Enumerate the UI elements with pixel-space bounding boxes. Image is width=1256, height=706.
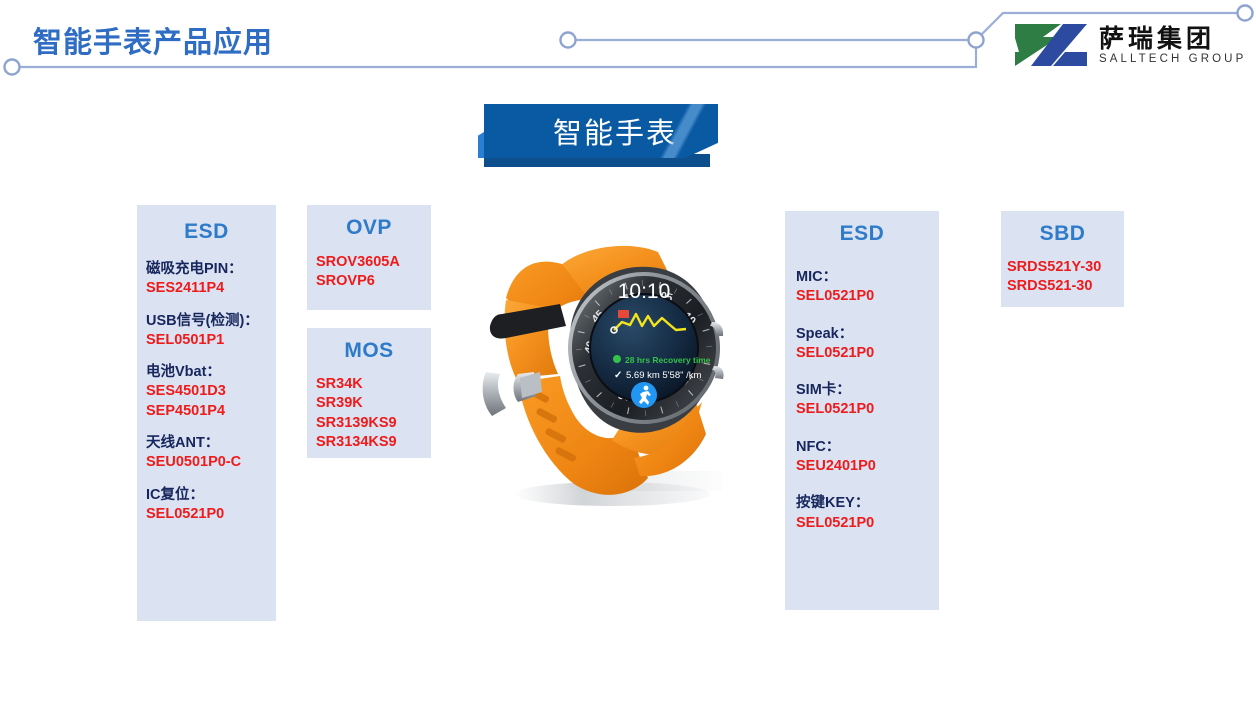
part-group: 天线ANT： SEU0501P0-C xyxy=(146,434,276,473)
group-label: SIM卡： xyxy=(796,381,939,400)
part-group: SIM卡： SEL0521P0 xyxy=(796,381,939,420)
panel-ovp: OVP SROV3605A SROVP6 xyxy=(307,205,431,310)
page-title: 智能手表产品应用 xyxy=(33,19,273,61)
deco-node-right xyxy=(1238,6,1253,21)
brand-logo: 萨瑞集团 SALLTECH GROUP xyxy=(1013,22,1246,68)
part-group: MIC： SEL0521P0 xyxy=(796,268,939,307)
part-number: SR39K xyxy=(316,394,431,413)
deco-node-junction xyxy=(969,33,984,48)
part-number: SROV3605A xyxy=(316,253,431,272)
part-number: SEL0521P0 xyxy=(146,505,276,524)
part-group: SROV3605A SROVP6 xyxy=(316,253,431,292)
salltech-logo-mark xyxy=(1013,22,1089,68)
part-group: 按键KEY： SEL0521P0 xyxy=(796,494,939,533)
panel-mos: MOS SR34K SR39K SR3139KS9 SR3134KS9 xyxy=(307,328,431,458)
group-label: 按键KEY： xyxy=(796,494,939,513)
part-number: SES2411P4 xyxy=(146,279,276,298)
panel-esd-right: ESD MIC： SEL0521P0 Speak： SEL0521P0 SIM卡… xyxy=(785,211,939,610)
panel-title: MOS xyxy=(307,339,431,363)
group-label: 天线ANT： xyxy=(146,434,276,453)
group-label: 电池Vbat： xyxy=(146,363,276,382)
group-label: MIC： xyxy=(796,268,939,287)
recovery-status-icon xyxy=(613,355,621,363)
banner-label: 智能手表 xyxy=(553,110,677,152)
panel-esd-left: ESD 磁吸充电PIN： SES2411P4 USB信号(检测)： SEL050… xyxy=(137,205,276,621)
group-label: USB信号(检测)： xyxy=(146,312,276,331)
watch-check-icon: ✓ xyxy=(614,370,622,381)
slide-root: 智能手表产品应用 萨瑞集团 SALLTECH GROUP 智能手表 ESD 磁吸… xyxy=(0,0,1256,706)
part-number: SEL0521P0 xyxy=(796,344,939,363)
smartwatch-product-image: 60 05 10 15 20 25 30 35 40 45 10:10 28 h… xyxy=(462,226,752,526)
part-number: SR34K xyxy=(316,375,431,394)
part-number: SES4501D3 xyxy=(146,382,276,401)
part-number: SR3134KS9 xyxy=(316,433,431,452)
watch-time: 10:10 xyxy=(618,280,671,303)
part-number: SEL0521P0 xyxy=(796,287,939,306)
section-banner: 智能手表 xyxy=(478,100,724,168)
part-number: SEU0501P0-C xyxy=(146,453,276,472)
part-group: USB信号(检测)： SEL0501P1 xyxy=(146,312,276,351)
panel-groups: SRDS521Y-30 SRDS521-30 xyxy=(1001,258,1124,297)
part-group: IC复位： SEL0521P0 xyxy=(146,486,276,525)
panel-sbd: SBD SRDS521Y-30 SRDS521-30 xyxy=(1001,211,1124,307)
part-number: SRDS521-30 xyxy=(1007,277,1124,296)
panel-title: ESD xyxy=(137,220,276,244)
part-number: SEL0501P1 xyxy=(146,331,276,350)
part-number: SR3139KS9 xyxy=(316,414,431,433)
part-number: SEL0521P0 xyxy=(796,400,939,419)
panel-groups: MIC： SEL0521P0 Speak： SEL0521P0 SIM卡： SE… xyxy=(785,268,939,533)
logo-name-en: SALLTECH GROUP xyxy=(1099,53,1246,65)
panel-groups: 磁吸充电PIN： SES2411P4 USB信号(检测)： SEL0501P1 … xyxy=(137,260,276,524)
watch-recovery-text: 28 hrs Recovery time xyxy=(625,355,711,365)
part-group: 电池Vbat： SES4501D3 SEP4501P4 xyxy=(146,363,276,421)
watch-distance-text: 5.69 km 5'58" /km xyxy=(626,370,701,381)
part-group: SRDS521Y-30 SRDS521-30 xyxy=(1007,258,1124,297)
part-group: Speak： SEL0521P0 xyxy=(796,325,939,364)
deco-node-mid xyxy=(561,33,576,48)
deco-node-left xyxy=(5,60,20,75)
group-label: IC复位： xyxy=(146,486,276,505)
panel-title: ESD xyxy=(785,222,939,246)
part-group: 磁吸充电PIN： SES2411P4 xyxy=(146,260,276,299)
part-number: SROVP6 xyxy=(316,272,431,291)
part-group: NFC： SEU2401P0 xyxy=(796,438,939,477)
part-number: SEP4501P4 xyxy=(146,402,276,421)
part-number: SRDS521Y-30 xyxy=(1007,258,1124,277)
panel-groups: SR34K SR39K SR3139KS9 SR3134KS9 xyxy=(307,375,431,452)
group-label: NFC： xyxy=(796,438,939,457)
slide-header: 智能手表产品应用 萨瑞集团 SALLTECH GROUP xyxy=(0,0,1256,92)
part-number: SEL0521P0 xyxy=(796,514,939,533)
chart-flag-marker xyxy=(618,310,629,318)
logo-name-cn: 萨瑞集团 xyxy=(1099,26,1246,52)
part-group: SR34K SR39K SR3139KS9 SR3134KS9 xyxy=(316,375,431,452)
group-label: 磁吸充电PIN： xyxy=(146,260,276,279)
panel-title: SBD xyxy=(1001,222,1124,246)
panel-groups: SROV3605A SROVP6 xyxy=(307,253,431,292)
panel-title: OVP xyxy=(307,216,431,240)
part-number: SEU2401P0 xyxy=(796,457,939,476)
group-label: Speak： xyxy=(796,325,939,344)
